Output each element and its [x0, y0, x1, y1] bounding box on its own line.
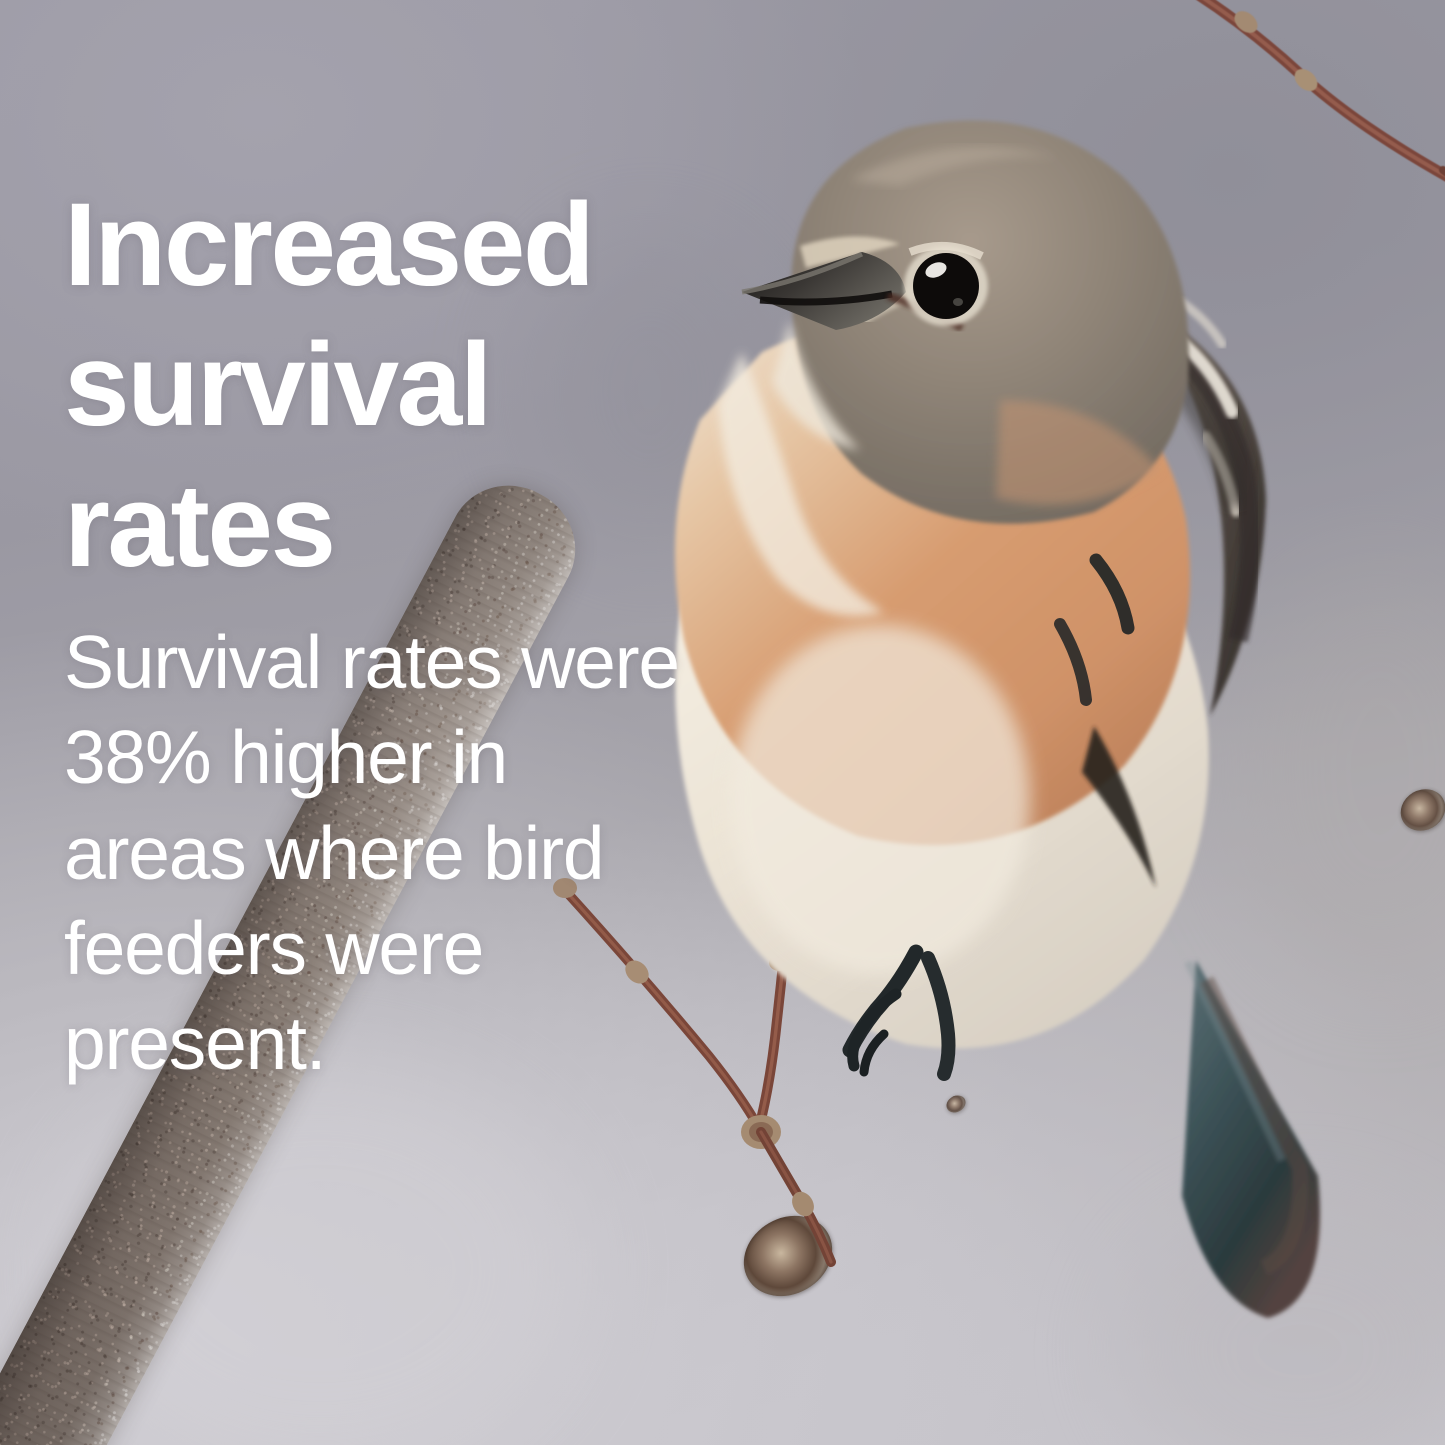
bird-tail	[1182, 960, 1320, 1318]
bird-eye	[904, 246, 988, 326]
body-text: Survival rates were 38% higher in areas …	[64, 615, 689, 1091]
infographic-card: Increased survival rates Survival rates …	[0, 0, 1445, 1445]
page-title: Increased survival rates	[64, 175, 704, 596]
